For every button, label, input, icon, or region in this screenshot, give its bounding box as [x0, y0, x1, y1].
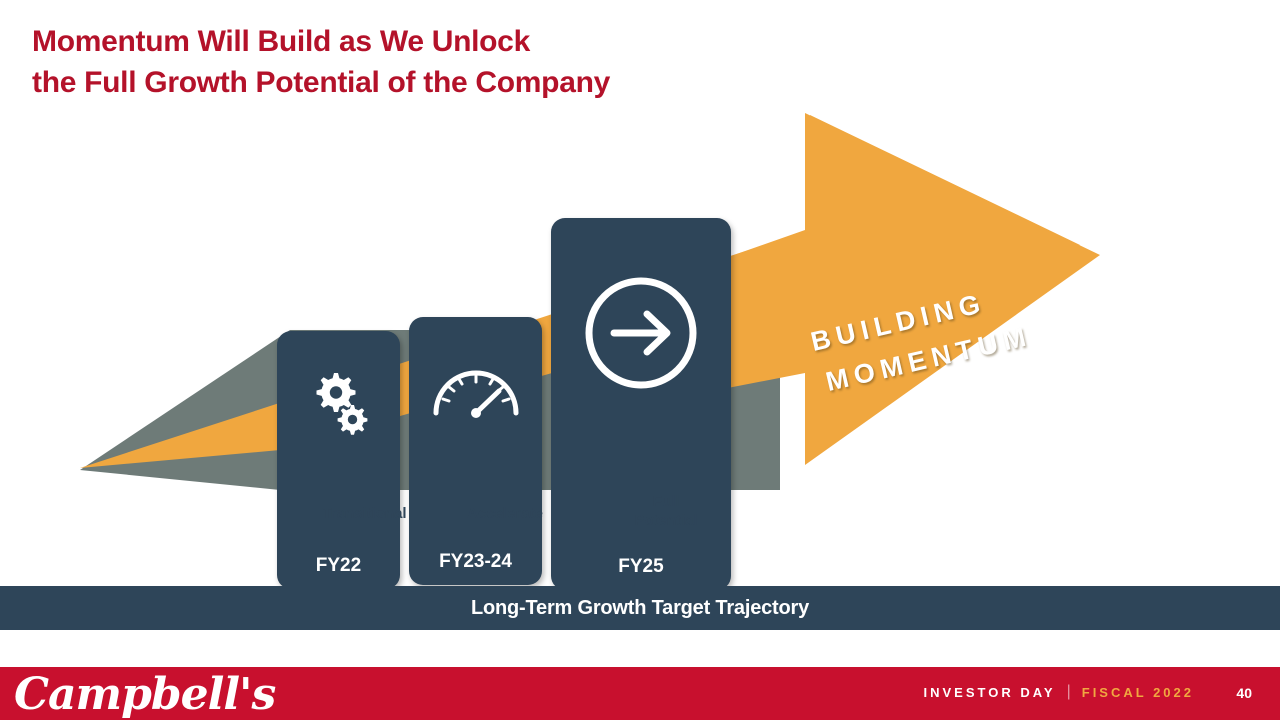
page-title-line-2: the Full Growth Potential of the Company [32, 63, 832, 104]
slide: Momentum Will Build as We Unlock the Ful… [0, 0, 1280, 720]
campbells-logo: Campbell's [14, 669, 275, 720]
footer-fiscal-label: FISCAL 2022 [1082, 685, 1194, 700]
momentum-graphic: BUILDING MOMENTUM FY22 [0, 105, 1280, 575]
stage-caption-fy25: Full Potential [585, 493, 747, 531]
page-title: Momentum Will Build as We Unlock the Ful… [32, 22, 832, 103]
slide-footer: Campbell's INVESTOR DAY | FISCAL 2022 40 [0, 667, 1280, 720]
footer-event-label: INVESTOR DAY [924, 685, 1056, 700]
stage-card-fy22[interactable]: FY22 [277, 331, 400, 589]
stage-caption-fy23-24-line-1: Accelerate [425, 505, 585, 524]
banner-text: Long-Term Growth Target Trajectory [471, 597, 809, 620]
page-title-line-1: Momentum Will Build as We Unlock [32, 22, 832, 63]
footer-divider: | [1067, 683, 1071, 701]
bottom-banner: Long-Term Growth Target Trajectory [0, 586, 1280, 630]
speedometer-icon [409, 351, 542, 431]
page-number: 40 [1236, 685, 1252, 701]
stage-label-fy23-24: FY23-24 [409, 551, 542, 573]
arrow-circle-icon [551, 273, 731, 393]
footer-meta: INVESTOR DAY | FISCAL 2022 [924, 683, 1195, 701]
stage-card-fy25[interactable]: FY25 [551, 218, 731, 590]
gears-icon [277, 365, 400, 435]
stage-caption-fy25-line-2: Potential [585, 512, 747, 531]
stage-label-fy22: FY22 [277, 555, 400, 577]
stage-card-fy23-24[interactable]: FY23-24 [409, 317, 542, 585]
stage-label-fy25: FY25 [551, 556, 731, 578]
stage-caption-fy23-24: Accelerate [425, 505, 585, 524]
stage-caption-fy25-line-1: Full [585, 493, 747, 512]
